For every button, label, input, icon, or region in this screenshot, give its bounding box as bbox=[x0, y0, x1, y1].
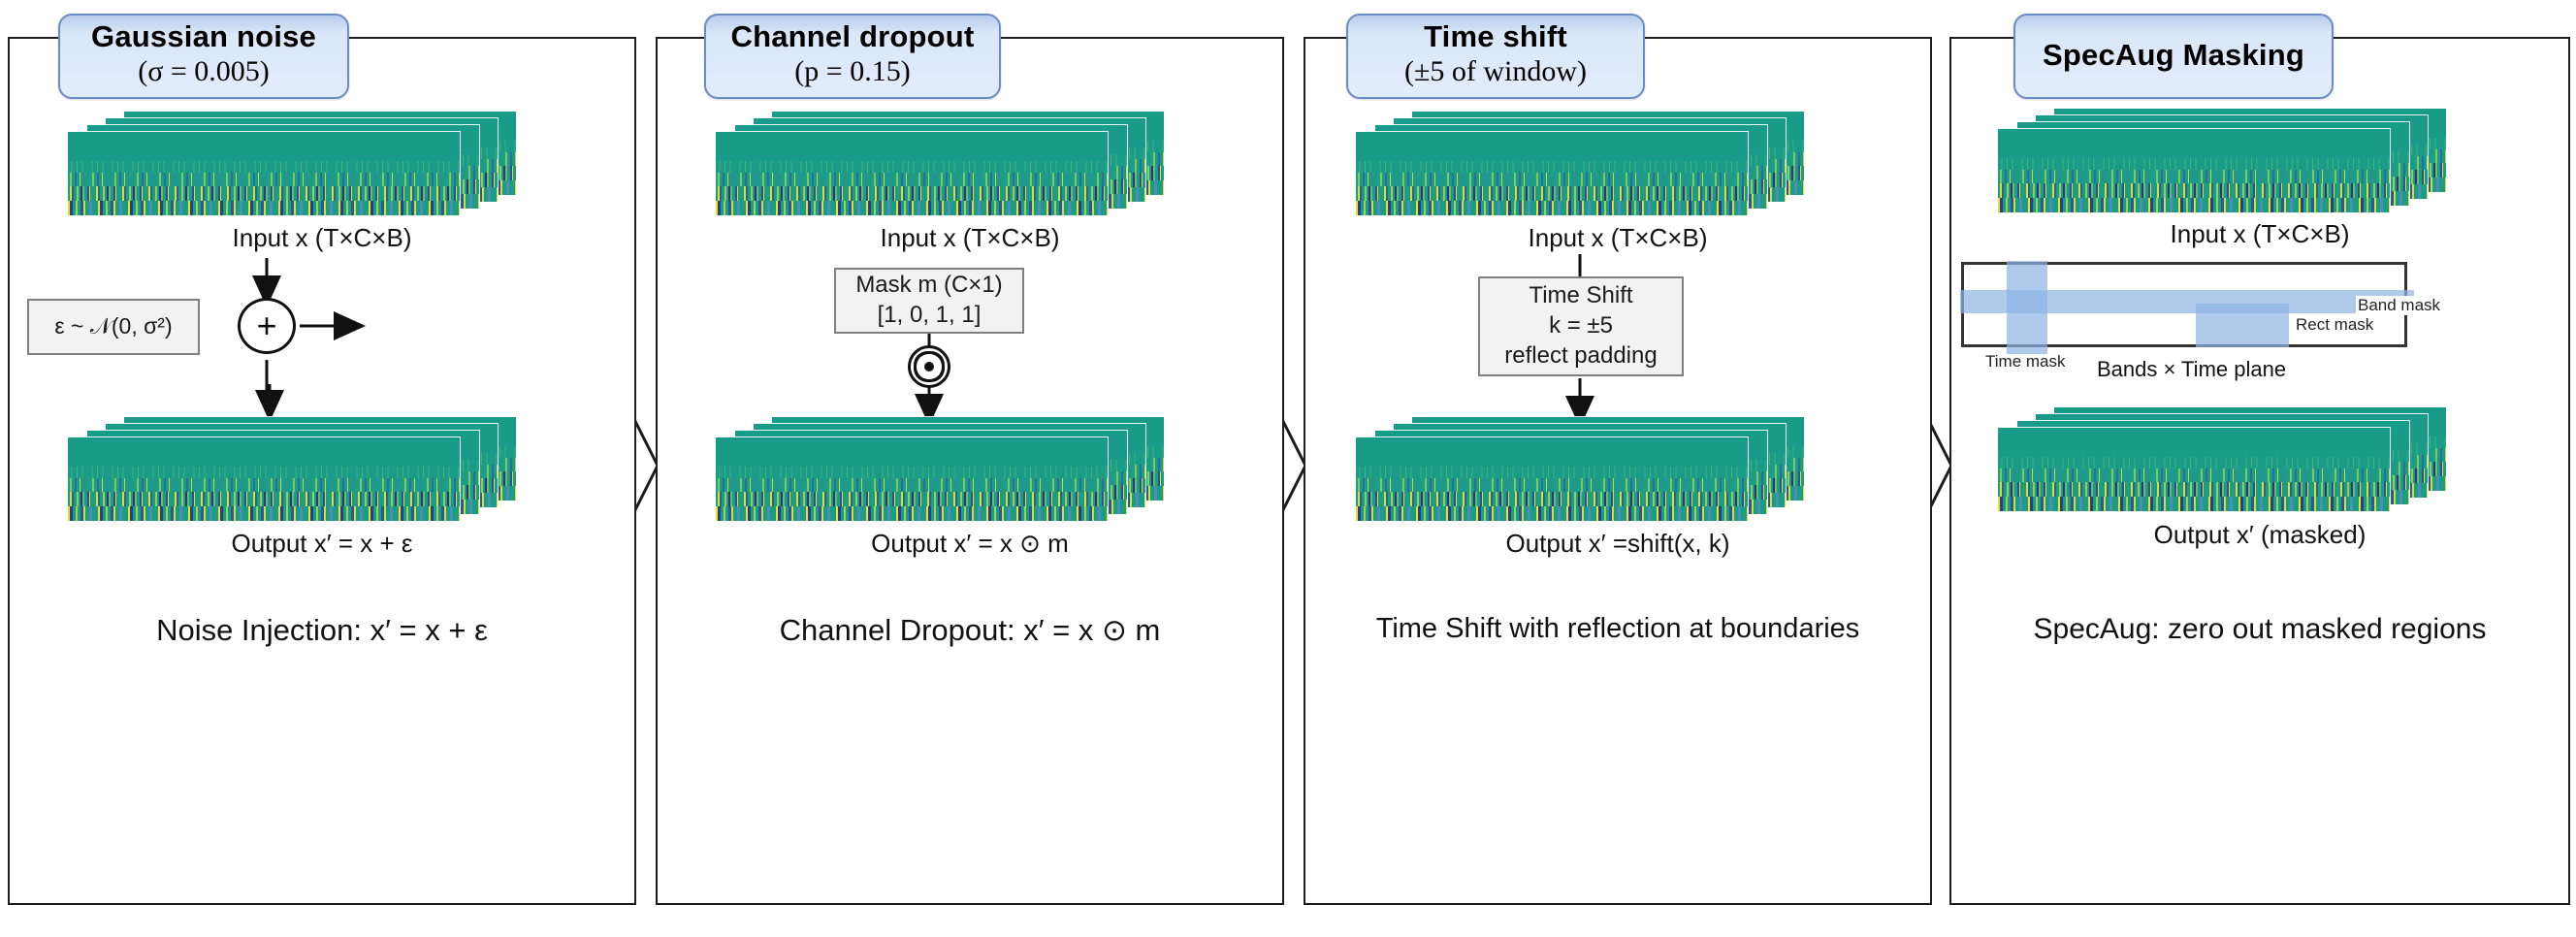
panel-title: SpecAug Masking bbox=[2043, 40, 2304, 72]
output-caption: Output x′ (masked) bbox=[1951, 520, 2568, 550]
panel-title: Time shift bbox=[1424, 21, 1567, 53]
channel-mask-label: Mask m (C×1) bbox=[855, 271, 1002, 301]
output-caption: Output x′ = x + ε bbox=[10, 529, 634, 559]
input-caption: Input x (T×C×B) bbox=[1951, 219, 2568, 249]
panel-time-shift: Time shift (±5 of window) Input x (T×C×B… bbox=[1304, 37, 1932, 905]
output-spectrogram-stack bbox=[716, 417, 1164, 522]
panel-footer: Channel Dropout: x′ = x ⊙ m bbox=[658, 613, 1282, 648]
panel-header-channel-dropout: Channel dropout (p = 0.15) bbox=[704, 14, 1001, 99]
input-spectrogram-stack bbox=[68, 112, 516, 216]
panel-header-specaug-masking: SpecAug Masking bbox=[2013, 14, 2334, 99]
noise-distribution-formula: ε ~ 𝒩(0, σ²) bbox=[54, 312, 172, 340]
output-spectrogram-stack bbox=[1356, 417, 1804, 522]
time-mask-label: Time mask bbox=[1983, 352, 2068, 372]
rect-mask-label: Rect mask bbox=[2294, 315, 2375, 335]
input-caption: Input x (T×C×B) bbox=[658, 223, 1282, 253]
panel-title: Channel dropout bbox=[731, 21, 975, 53]
panel-subtitle: (±5 of window) bbox=[1404, 55, 1587, 89]
augmentation-pipeline-diagram: Gaussian noise (σ = 0.005) Input x (T×C×… bbox=[0, 0, 2576, 937]
panel-header-time-shift: Time shift (±5 of window) bbox=[1346, 14, 1645, 99]
input-spectrogram-stack bbox=[1356, 112, 1804, 216]
hadamard-operator-icon bbox=[908, 345, 950, 388]
input-spectrogram-stack bbox=[1998, 109, 2446, 213]
time-mask-region bbox=[2007, 261, 2047, 354]
noise-distribution-box: ε ~ 𝒩(0, σ²) bbox=[27, 299, 200, 355]
time-shift-box: Time Shift k = ±5 reflect padding bbox=[1478, 276, 1684, 376]
panel-specaug-masking: SpecAug Masking Input x (T×C×B) Band mas… bbox=[1949, 37, 2570, 905]
plus-operator-symbol: + bbox=[256, 308, 276, 343]
band-mask-label: Band mask bbox=[2356, 296, 2442, 315]
time-shift-padding: reflect padding bbox=[1504, 341, 1657, 372]
bands-time-mask-plane: Band mask Rect mask Time mask bbox=[1961, 262, 2407, 347]
time-shift-title: Time Shift bbox=[1529, 281, 1632, 311]
panel-footer: SpecAug: zero out masked regions bbox=[1951, 613, 2568, 646]
panel-footer: Noise Injection: x′ = x + ε bbox=[10, 613, 634, 648]
channel-mask-values: [1, 0, 1, 1] bbox=[878, 301, 982, 331]
panel-subtitle: (p = 0.15) bbox=[794, 55, 910, 89]
output-spectrogram-stack bbox=[1998, 407, 2446, 512]
input-caption: Input x (T×C×B) bbox=[10, 223, 634, 253]
panel-channel-dropout: Channel dropout (p = 0.15) Input x (T×C×… bbox=[656, 37, 1284, 905]
hadamard-operator-symbol bbox=[924, 362, 934, 372]
time-shift-k: k = ±5 bbox=[1549, 311, 1613, 341]
plus-operator-icon: + bbox=[238, 298, 296, 354]
panel-footer: Time Shift with reflection at boundaries bbox=[1305, 613, 1930, 645]
input-spectrogram-stack bbox=[716, 112, 1164, 216]
rect-mask-region bbox=[2196, 304, 2289, 347]
panel-title: Gaussian noise bbox=[91, 21, 316, 53]
output-spectrogram-stack bbox=[68, 417, 516, 522]
channel-mask-box: Mask m (C×1) [1, 0, 1, 1] bbox=[834, 268, 1024, 334]
input-caption: Input x (T×C×B) bbox=[1305, 223, 1930, 253]
output-caption: Output x′ =shift(x, k) bbox=[1305, 529, 1930, 559]
mask-plane-caption: Bands × Time plane bbox=[2097, 357, 2286, 382]
panel-subtitle: (σ = 0.005) bbox=[138, 55, 270, 89]
output-caption: Output x′ = x ⊙ m bbox=[658, 529, 1282, 559]
panel-gaussian-noise: Gaussian noise (σ = 0.005) Input x (T×C×… bbox=[8, 37, 636, 905]
panel-header-gaussian-noise: Gaussian noise (σ = 0.005) bbox=[58, 14, 349, 99]
